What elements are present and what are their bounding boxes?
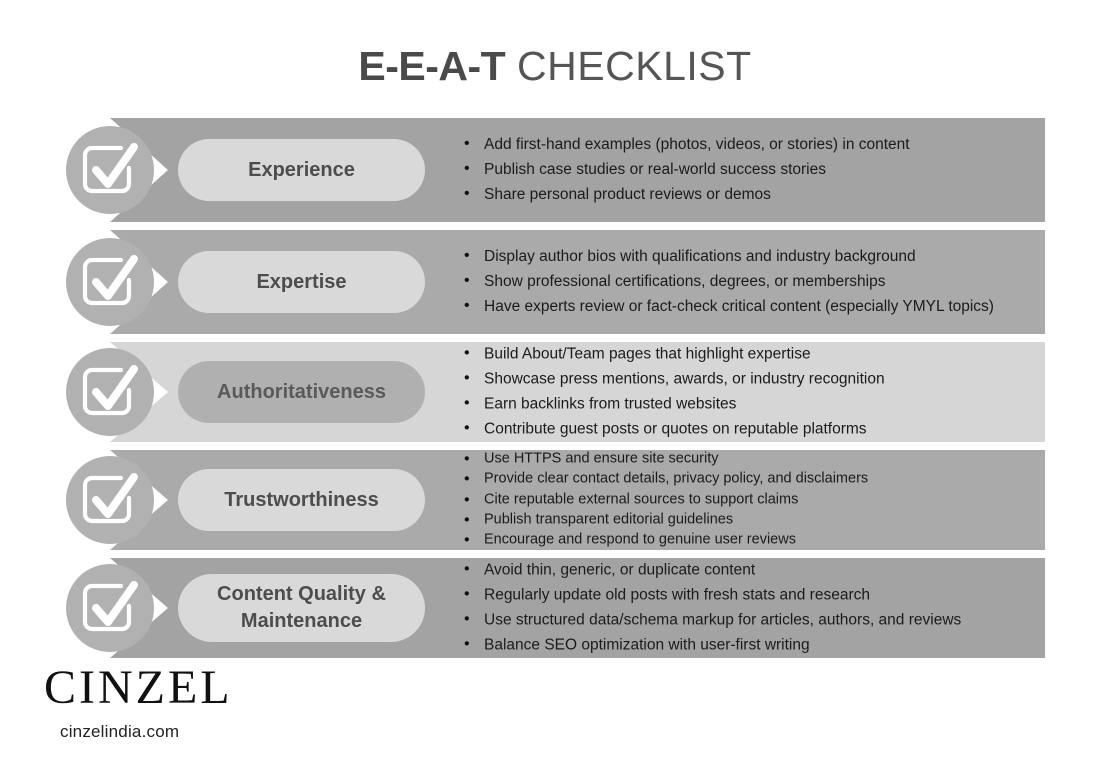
- list-item: Earn backlinks from trusted websites: [484, 394, 1031, 416]
- category-pill-authoritativeness[interactable]: Authoritativeness: [178, 361, 425, 423]
- page-header: E-E-A-T CHECKLIST: [0, 46, 1110, 87]
- bullet-list-authoritativeness: Build About/Team pages that highlight ex…: [462, 344, 1031, 441]
- category-label: Authoritativeness: [207, 379, 396, 406]
- category-pill-content-quality[interactable]: Content Quality & Maintenance: [178, 574, 425, 642]
- list-item: Add first-hand examples (photos, videos,…: [484, 134, 1031, 156]
- list-item: Regularly update old posts with fresh st…: [484, 585, 1031, 607]
- category-pill-experience[interactable]: Experience: [178, 139, 425, 201]
- brand-logo: CINZEL: [44, 664, 233, 712]
- checkbox-check-icon: [66, 348, 154, 436]
- category-pill-expertise[interactable]: Expertise: [178, 251, 425, 313]
- bullet-list-expertise: Display author bios with qualifications …: [462, 246, 1031, 318]
- list-item: Show professional certifications, degree…: [484, 271, 1031, 293]
- page-title-regular: CHECKLIST: [505, 43, 752, 89]
- page-title: E-E-A-T CHECKLIST: [0, 46, 1110, 87]
- category-label: Content Quality & Maintenance: [178, 581, 425, 635]
- list-item: Encourage and respond to genuine user re…: [484, 530, 1031, 549]
- list-item: Cite reputable external sources to suppo…: [484, 490, 1031, 509]
- checkbox-check-icon: [66, 456, 154, 544]
- category-label: Experience: [238, 157, 365, 184]
- category-pill-trustworthiness[interactable]: Trustworthiness: [178, 469, 425, 531]
- checkbox-check-icon: [66, 238, 154, 326]
- category-label: Trustworthiness: [214, 487, 388, 514]
- bullet-list-content-quality: Avoid thin, generic, or duplicate conten…: [462, 560, 1031, 657]
- list-item: Publish case studies or real-world succe…: [484, 159, 1031, 181]
- footer: CINZEL cinzelindia.com: [44, 664, 233, 742]
- list-item: Share personal product reviews or demos: [484, 184, 1031, 206]
- list-item: Have experts review or fact-check critic…: [484, 296, 1031, 318]
- checklist-row-authoritativeness: Authoritativeness Build About/Team pages…: [0, 342, 1045, 442]
- bullet-list-experience: Add first-hand examples (photos, videos,…: [462, 134, 1031, 206]
- checklist-row-expertise: Expertise Display author bios with quali…: [0, 230, 1045, 334]
- list-item: Balance SEO optimization with user-first…: [484, 635, 1031, 657]
- checklist-row-experience: Experience Add first-hand examples (phot…: [0, 118, 1045, 222]
- list-item: Showcase press mentions, awards, or indu…: [484, 369, 1031, 391]
- list-item: Use HTTPS and ensure site security: [484, 449, 1031, 468]
- checklist-row-trustworthiness: Trustworthiness Use HTTPS and ensure sit…: [0, 450, 1045, 550]
- bullet-list-trustworthiness: Use HTTPS and ensure site security Provi…: [462, 449, 1031, 550]
- checklist-row-content-quality: Content Quality & Maintenance Avoid thin…: [0, 558, 1045, 658]
- page-title-bold: E-E-A-T: [358, 43, 505, 89]
- checkbox-check-icon: [66, 126, 154, 214]
- checkbox-check-icon: [66, 564, 154, 652]
- list-item: Display author bios with qualifications …: [484, 246, 1031, 268]
- list-item: Publish transparent editorial guidelines: [484, 510, 1031, 529]
- list-item: Build About/Team pages that highlight ex…: [484, 344, 1031, 366]
- list-item: Provide clear contact details, privacy p…: [484, 470, 1031, 489]
- list-item: Use structured data/schema markup for ar…: [484, 610, 1031, 632]
- brand-website-url: cinzelindia.com: [60, 722, 233, 742]
- category-label: Expertise: [246, 269, 356, 296]
- list-item: Contribute guest posts or quotes on repu…: [484, 419, 1031, 441]
- list-item: Avoid thin, generic, or duplicate conten…: [484, 560, 1031, 582]
- checklist-rows: Experience Add first-hand examples (phot…: [0, 118, 1110, 666]
